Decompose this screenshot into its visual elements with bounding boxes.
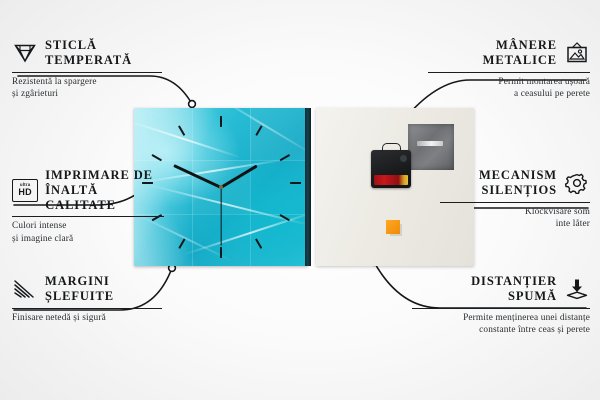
clock-tick — [290, 182, 301, 184]
desc-line: constante între ceas și perete — [412, 324, 590, 336]
title-line: ȘLEFUITE — [45, 289, 114, 304]
title-line: IMPRIMARE DE — [45, 168, 164, 183]
feature-metal-hangers: MÂNERE METALICE Permit montarea ușoară a… — [428, 38, 590, 100]
beveled-edge-icon — [12, 278, 38, 300]
clock-tick — [220, 247, 222, 258]
diamond-icon — [12, 42, 38, 64]
feature-high-quality-print: ultra HD IMPRIMARE DE ÎNALTĂ CALITATE Cu… — [12, 168, 164, 245]
infographic-canvas: STICLĂ TEMPERATĂ Rezistentă la spargere … — [0, 0, 600, 400]
glass-edge — [305, 108, 311, 266]
hanging-frame-icon — [564, 42, 590, 64]
divider — [12, 308, 162, 309]
divider — [412, 308, 590, 309]
desc-line: Finisare netedă și sigură — [12, 312, 162, 324]
desc-line: inte låter — [440, 218, 590, 230]
clock-tick — [255, 238, 262, 248]
desc-line: Permite menținerea unei distanțe — [412, 312, 590, 324]
clock-tick — [220, 116, 222, 127]
desc-line: a ceasului pe perete — [428, 88, 590, 100]
title-line: DISTANȚIER — [471, 274, 557, 289]
divider — [12, 216, 164, 217]
press-down-icon — [564, 278, 590, 300]
mechanism-knob — [400, 155, 407, 162]
feature-title: DISTANȚIER SPUMĂ — [471, 274, 557, 304]
clock-hub — [219, 185, 223, 189]
title-line: MÂNERE — [483, 38, 557, 53]
foam-spacer — [386, 220, 400, 234]
title-line: SILENȚIOS — [479, 183, 557, 198]
clock-tick — [178, 238, 185, 248]
feature-foam-spacer: DISTANȚIER SPUMĂ Permite menținerea unei… — [412, 274, 590, 336]
feature-description: Permit montarea ușoară a ceasului pe per… — [428, 76, 590, 101]
feature-title: MÂNERE METALICE — [483, 38, 557, 68]
feature-title: STICLĂ TEMPERATĂ — [45, 38, 132, 68]
clock-second-hand — [220, 188, 221, 246]
feature-description: Finisare netedă și sigură — [12, 312, 162, 324]
clock-mechanism — [371, 150, 411, 188]
marker-tempered-glass — [189, 101, 196, 108]
feature-silent-mechanism: MECANISM SILENȚIOS Klockvisare som inte … — [440, 168, 590, 230]
title-line: ÎNALTĂ CALITATE — [45, 183, 164, 213]
title-line: STICLĂ — [45, 38, 132, 53]
metal-hanger-plate — [408, 124, 454, 170]
ultra-hd-icon: ultra HD — [12, 179, 38, 202]
title-line: MECANISM — [479, 168, 557, 183]
desc-line: Permit montarea ușoară — [428, 76, 590, 88]
feature-description: Culori intense și imagine clară — [12, 220, 164, 245]
battery — [374, 175, 408, 185]
feature-title: MARGINI ȘLEFUITE — [45, 274, 114, 304]
title-line: MARGINI — [45, 274, 114, 289]
feature-polished-edges: MARGINI ȘLEFUITE Finisare netedă și sigu… — [12, 274, 162, 324]
ultra-hd-bottom-label: HD — [18, 188, 31, 197]
feature-title: MECANISM SILENȚIOS — [479, 168, 557, 198]
divider — [440, 202, 590, 203]
title-line: TEMPERATĂ — [45, 53, 132, 68]
feature-description: Klockvisare som inte låter — [440, 206, 590, 231]
gear-icon — [564, 172, 590, 194]
desc-line: Rezistentă la spargere — [12, 76, 162, 88]
title-line: SPUMĂ — [471, 289, 557, 304]
desc-line: Klockvisare som — [440, 206, 590, 218]
feature-tempered-glass: STICLĂ TEMPERATĂ Rezistentă la spargere … — [12, 38, 162, 100]
divider — [12, 72, 162, 73]
desc-line: și imagine clară — [12, 233, 164, 245]
feature-description: Rezistentă la spargere și zgârieturi — [12, 76, 162, 101]
divider — [428, 72, 590, 73]
title-line: METALICE — [483, 53, 557, 68]
product-image — [134, 108, 474, 268]
desc-line: Culori intense — [12, 220, 164, 232]
hanger-slot — [417, 141, 443, 146]
feature-description: Permite menținerea unei distanțe constan… — [412, 312, 590, 337]
hanger-loop — [382, 143, 401, 153]
feature-title: IMPRIMARE DE ÎNALTĂ CALITATE — [45, 168, 164, 212]
desc-line: și zgârieturi — [12, 88, 162, 100]
